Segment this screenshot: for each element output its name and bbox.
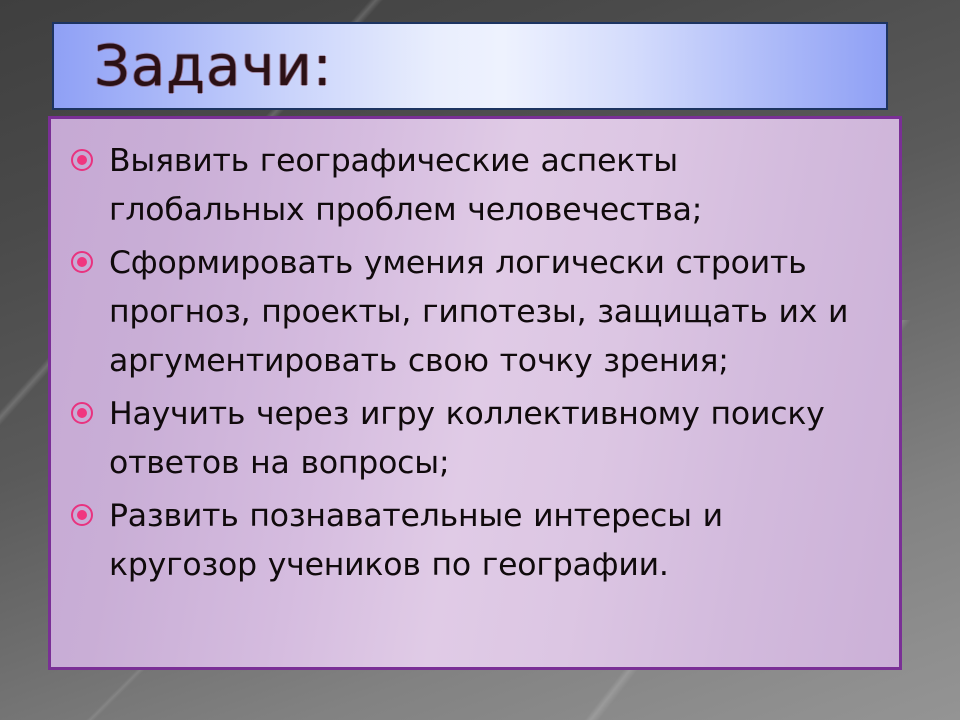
slide-title: Задачи:: [94, 34, 333, 99]
list-item: Выявить географические аспекты глобальны…: [63, 137, 879, 235]
slide-content-box: Выявить географические аспекты глобальны…: [48, 116, 902, 670]
bullet-list: Выявить географические аспекты глобальны…: [63, 137, 879, 590]
slide-title-box: Задачи:: [52, 22, 888, 110]
bullet-target-icon: [71, 149, 93, 171]
bullet-target-icon: [71, 402, 93, 424]
presentation-slide: Задачи: Выявить географические аспекты г…: [0, 0, 960, 720]
list-item: Научить через игру коллективному поиску …: [63, 390, 879, 488]
bullet-text: Развить познавательные интересы и кругоз…: [109, 492, 879, 590]
list-item: Развить познавательные интересы и кругоз…: [63, 492, 879, 590]
bullet-target-icon: [71, 251, 93, 273]
bullet-target-icon: [71, 504, 93, 526]
list-item: Сформировать умения логически строить пр…: [63, 239, 879, 386]
bullet-text: Сформировать умения логически строить пр…: [109, 239, 879, 386]
bullet-text: Научить через игру коллективному поиску …: [109, 390, 879, 488]
bullet-text: Выявить географические аспекты глобальны…: [109, 137, 879, 235]
